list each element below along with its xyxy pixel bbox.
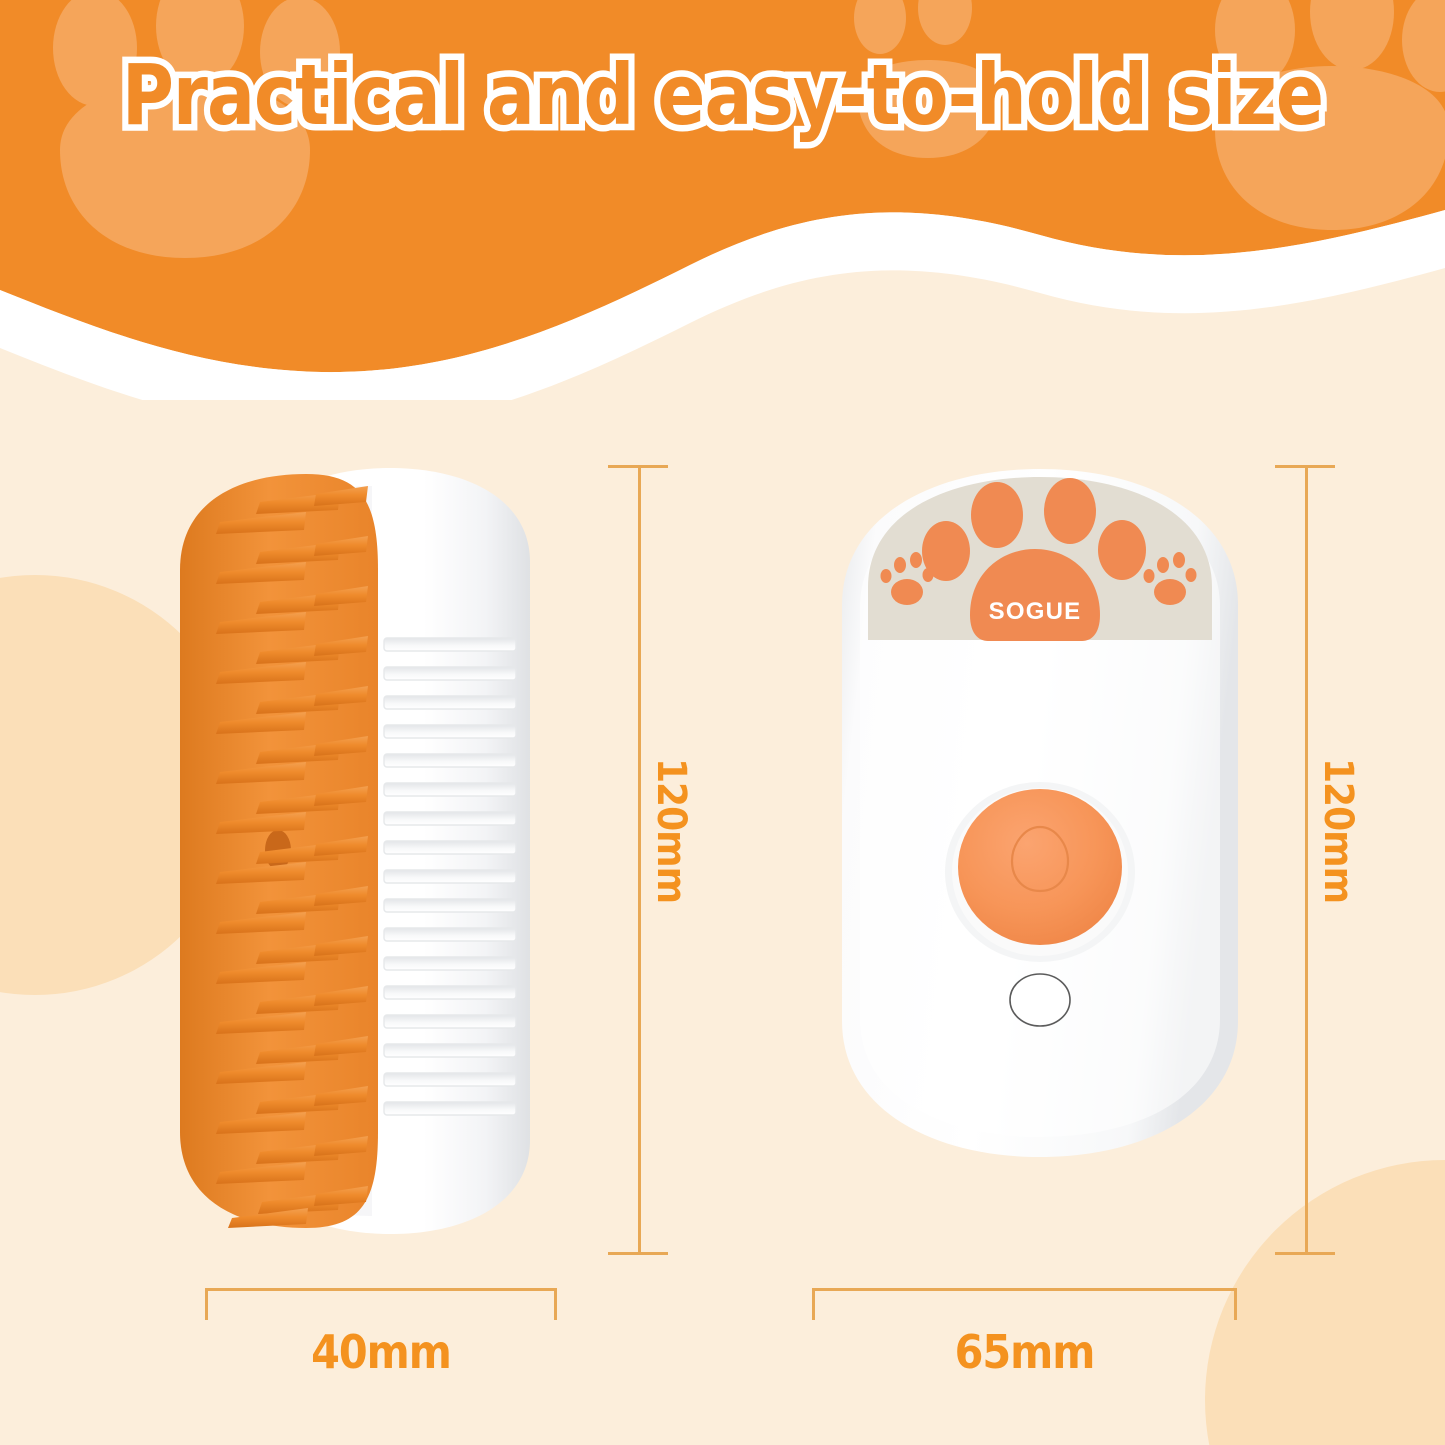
brush-width-dimension-line — [205, 1288, 557, 1291]
brush-comb-slots — [384, 638, 516, 1115]
product-image-brush — [110, 450, 580, 1250]
brush-height-dimension-line — [638, 465, 641, 1255]
brush-height-label: 120mm — [648, 758, 694, 903]
device-brand-label: SOGUE — [989, 598, 1082, 625]
brush-width-cap-right — [554, 1288, 557, 1320]
device-width-label: 65mm — [812, 1325, 1237, 1379]
brush-width-label: 40mm — [205, 1325, 557, 1379]
device-led-indicator — [1010, 974, 1070, 1026]
page-title: Practical and easy-to-hold size — [43, 46, 1401, 144]
device-width-cap-right — [1234, 1288, 1237, 1320]
product-image-device: SOGUE — [820, 455, 1260, 1175]
device-width-dimension-line — [812, 1288, 1237, 1291]
brush-height-cap-bottom — [608, 1252, 668, 1255]
device-height-dimension-line — [1305, 465, 1308, 1255]
brush-width-cap-left — [205, 1288, 208, 1320]
brush-height-cap-top — [608, 465, 668, 468]
device-power-button[interactable] — [945, 782, 1135, 962]
device-width-cap-left — [812, 1288, 815, 1320]
device-height-cap-top — [1275, 465, 1335, 468]
background-blob-right — [1205, 1160, 1445, 1445]
device-height-cap-bottom — [1275, 1252, 1335, 1255]
device-height-label: 120mm — [1315, 758, 1361, 903]
infographic-page: Practical and easy-to-hold size — [0, 0, 1445, 1445]
